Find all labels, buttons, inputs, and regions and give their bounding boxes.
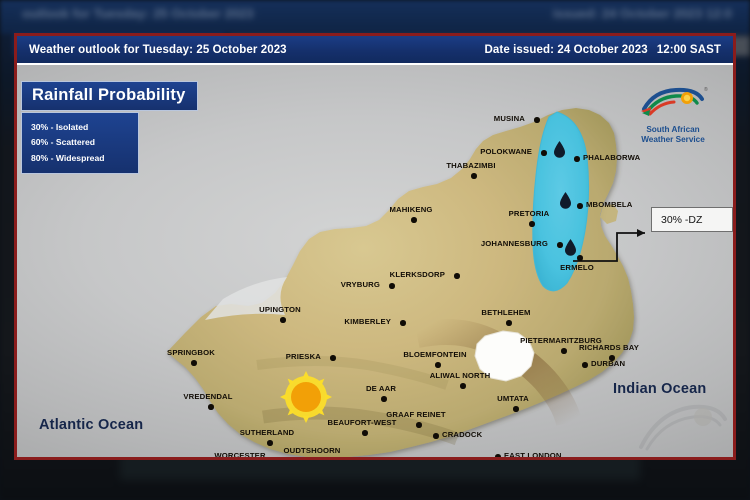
city-label: BLOEMFONTEIN (403, 350, 466, 359)
city-dot-icon (389, 283, 395, 289)
ocean-label-atlantic: Atlantic Ocean (39, 417, 143, 433)
city-dot-icon (362, 430, 368, 436)
city-label: KIMBERLEY (344, 317, 391, 326)
city-dot-icon (460, 383, 466, 389)
callout-label: 30% -DZ (661, 214, 702, 226)
legend-title: Rainfall Probability (21, 81, 198, 111)
legend-row-scattered: 60% - Scattered (31, 135, 130, 151)
city-label: VREDENDAL (183, 392, 232, 401)
city-label: THABAZIMBI (446, 161, 495, 170)
saws-logo-line2: Weather Service (625, 135, 721, 144)
city-dot-icon (574, 156, 580, 162)
city-dot-icon (330, 355, 336, 361)
city-dot-icon (506, 320, 512, 326)
city-label: KLERKSDORP (390, 270, 445, 279)
city-dot-icon (435, 362, 441, 368)
city-label: BETHLEHEM (481, 308, 530, 317)
city-label: ERMELO (560, 263, 594, 272)
time-issued-label: 12:00 SAST (657, 44, 721, 56)
city-dot-icon (280, 317, 286, 323)
city-label: BEAUFORT-WEST (328, 418, 397, 427)
saws-swoosh-icon: ® (638, 85, 708, 119)
corner-watermark-swoosh (637, 385, 729, 455)
city-dot-icon (267, 440, 273, 446)
saws-logo-line1: South African (625, 125, 721, 134)
city-dot-icon (208, 404, 214, 410)
city-label: SPRINGBOK (167, 348, 215, 357)
city-dot-icon (582, 362, 588, 368)
backdrop-ghost-text-right: issued: 24 October 2023 12:0 (553, 6, 732, 21)
city-label: ALIWAL NORTH (430, 371, 491, 380)
poster-header: Weather outlook for Tuesday: 25 October … (17, 36, 733, 65)
city-label: PHALABORWA (583, 153, 640, 162)
city-label: UPINGTON (259, 305, 301, 314)
city-label: WORCESTER (214, 451, 265, 457)
sun-icon (279, 370, 333, 424)
svg-text:®: ® (704, 86, 708, 93)
map-canvas: Rainfall Probability 30% - Isolated 60% … (17, 65, 733, 457)
city-dot-icon (534, 117, 540, 123)
city-dot-icon (513, 406, 519, 412)
city-label: MAHIKENG (389, 205, 432, 214)
city-label: PRETORIA (509, 209, 550, 218)
city-dot-icon (454, 273, 460, 279)
city-dot-icon (416, 422, 422, 428)
city-label: PRIESKA (286, 352, 321, 361)
city-dot-icon (471, 173, 477, 179)
city-dot-icon (557, 242, 563, 248)
rain-drop-marker (559, 192, 572, 214)
legend-box: 30% - Isolated 60% - Scattered 80% - Wid… (21, 112, 139, 174)
city-label: MBOMBELA (586, 200, 632, 209)
city-dot-icon (495, 454, 501, 457)
rain-drop-marker (564, 239, 577, 261)
city-dot-icon (191, 360, 197, 366)
city-dot-icon (529, 221, 535, 227)
legend-row-widespread: 80% - Widespread (31, 150, 130, 166)
city-label: MUSINA (494, 114, 525, 123)
city-label: DURBAN (591, 359, 625, 368)
rainfall-callout: 30% -DZ (651, 207, 733, 232)
city-dot-icon (411, 217, 417, 223)
city-label: DE AAR (366, 384, 396, 393)
weather-poster: Weather outlook for Tuesday: 25 October … (14, 33, 736, 460)
city-dot-icon (577, 203, 583, 209)
city-label: RICHARDS BAY (579, 343, 639, 352)
rain-drop-marker (553, 141, 566, 163)
callout-arrowhead (637, 229, 645, 237)
outlook-title: Weather outlook for Tuesday: 25 October … (29, 44, 287, 56)
backdrop-ghost-text-left: outlook for Tuesday: 25 October 2023 (22, 6, 254, 21)
city-label: OUDTSHOORN (283, 446, 340, 455)
city-label: VRYBURG (341, 280, 380, 289)
city-label: SUTHERLAND (240, 428, 294, 437)
city-label: EAST LONDON (504, 451, 562, 457)
city-label: CRADOCK (442, 430, 482, 439)
legend-row-isolated: 30% - Isolated (31, 119, 130, 135)
saws-logo: ® South African Weather Service (625, 85, 721, 145)
city-dot-icon (433, 433, 439, 439)
city-dot-icon (381, 396, 387, 402)
city-label: JOHANNESBURG (481, 239, 548, 248)
city-dot-icon (561, 348, 567, 354)
date-issued-label: Date issued: 24 October 2023 (484, 44, 647, 56)
city-label: POLOKWANE (480, 147, 532, 156)
city-label: UMTATA (497, 394, 529, 403)
city-dot-icon (400, 320, 406, 326)
city-dot-icon (577, 255, 583, 261)
city-dot-icon (541, 150, 547, 156)
